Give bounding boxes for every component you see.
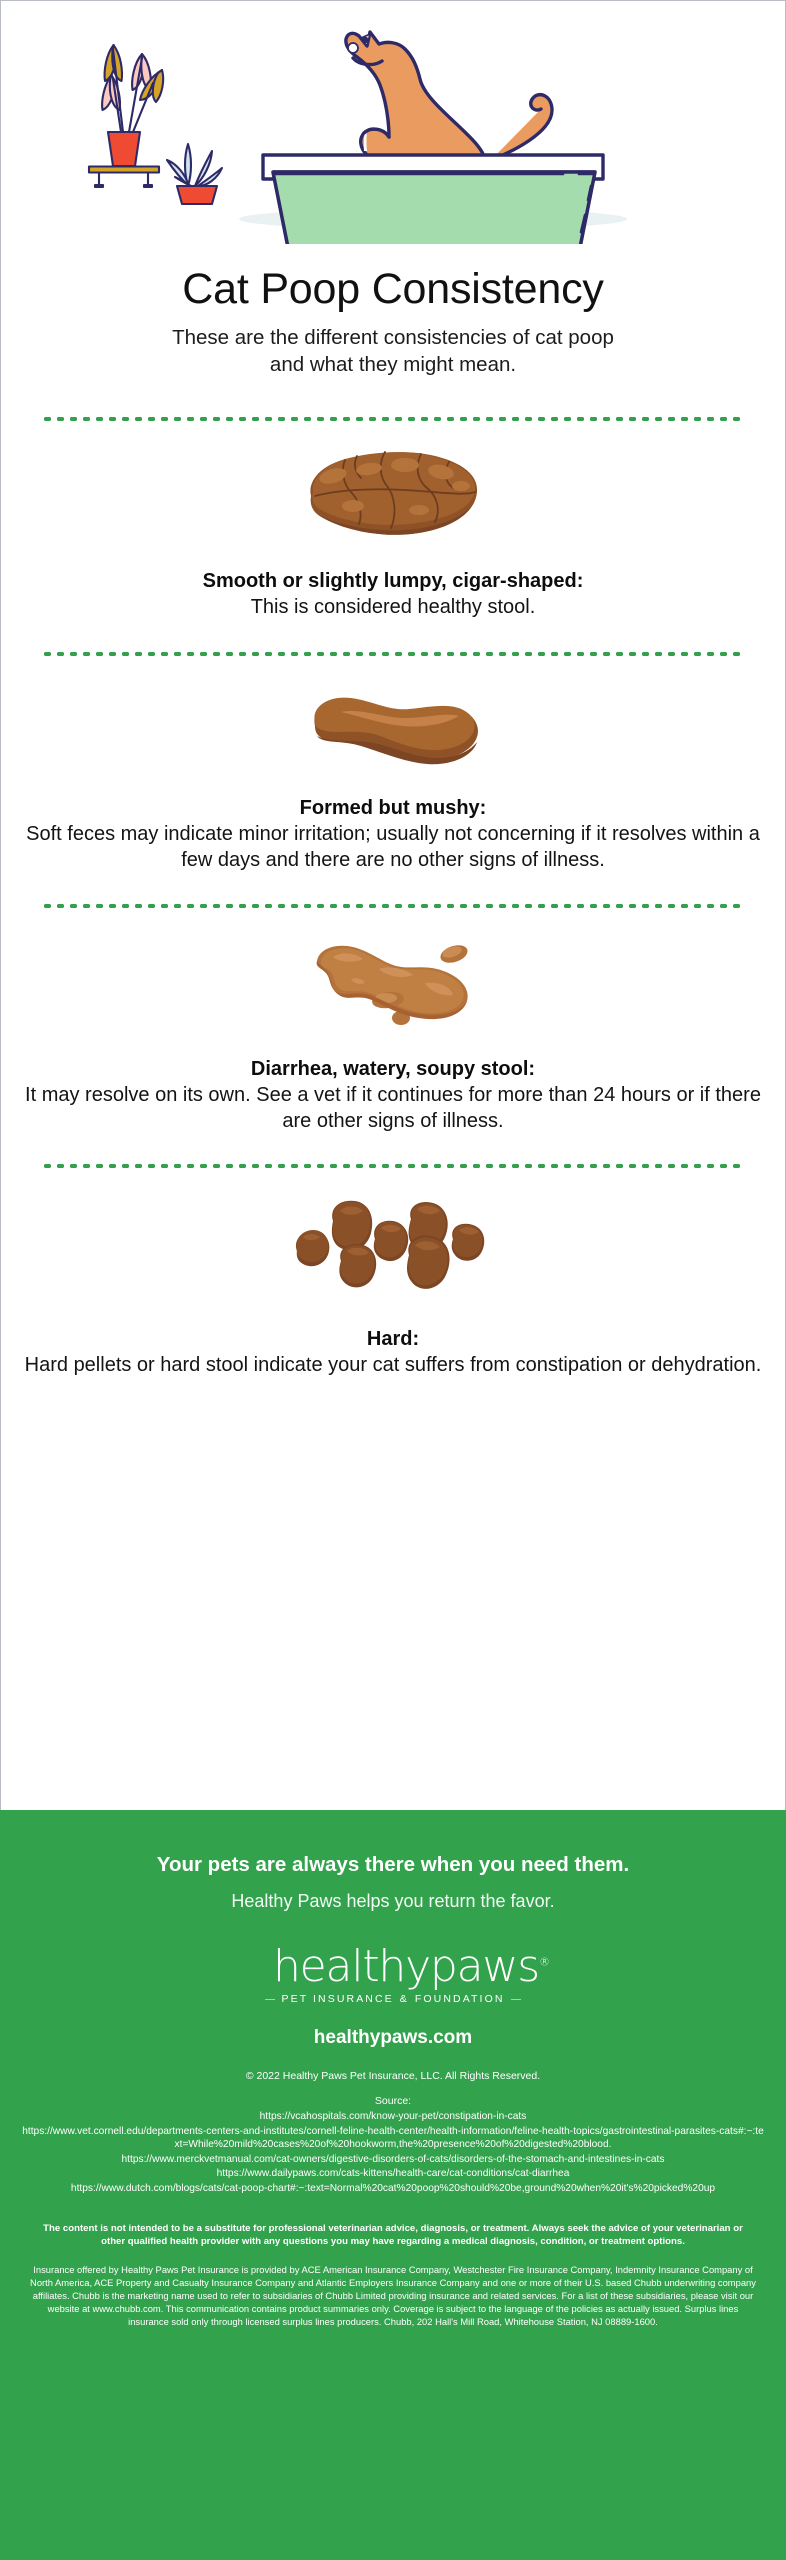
stool-formed-mushy-icon <box>23 684 763 769</box>
source-list: https://vcahospitals.com/know-your-pet/c… <box>16 2110 770 2196</box>
section-2-heading: Formed but mushy: <box>23 795 763 821</box>
title-block: Cat Poop Consistency These are the diffe… <box>1 266 785 378</box>
healthypaws-logo[interactable]: healthypaws® PET INSURANCE & FOUNDATION <box>273 1945 513 2005</box>
stool-lumpy-cigar-icon <box>23 444 763 544</box>
divider-3 <box>41 904 745 908</box>
divider-1 <box>41 417 745 421</box>
page-subtitle: These are the different consistencies of… <box>158 325 628 377</box>
footer-panel: Your pets are always there when you need… <box>0 1810 786 2560</box>
footer-subline: Healthy Paws helps you return the favor. <box>231 1890 554 1913</box>
section-1-heading: Smooth or slightly lumpy, cigar-shaped: <box>23 568 763 594</box>
legal-text: Insurance offered by Healthy Paws Pet In… <box>30 2264 756 2329</box>
section-3-heading: Diarrhea, watery, soupy stool: <box>23 1056 763 1082</box>
logo-rule-right <box>511 1999 521 2000</box>
site-url-link[interactable]: healthypaws.com <box>314 2027 472 2049</box>
registered-trademark-icon: ® <box>539 1955 550 1968</box>
divider-4 <box>41 1164 745 1168</box>
logo-wordmark: healthypaws® <box>273 1945 550 1989</box>
section-1-body: This is considered healthy stool. <box>23 594 763 621</box>
source-label: Source: <box>375 2094 411 2108</box>
section-2-body: Soft feces may indicate minor irritation… <box>23 821 763 874</box>
list-item[interactable]: https://www.dutch.com/blogs/cats/cat-poo… <box>16 2182 770 2195</box>
list-item[interactable]: https://www.merckvetmanual.com/cat-owner… <box>16 2153 770 2166</box>
hero-illustration <box>1 1 785 244</box>
footer-headline: Your pets are always there when you need… <box>157 1852 629 1879</box>
divider-2 <box>41 652 745 656</box>
logo-tagline-right: FOUNDATION <box>415 1993 505 2005</box>
logo-rule-left <box>265 1999 275 2000</box>
list-item[interactable]: https://vcahospitals.com/know-your-pet/c… <box>16 2110 770 2123</box>
section-4-body: Hard pellets or hard stool indicate your… <box>23 1352 763 1379</box>
section-diarrhea: Diarrhea, watery, soupy stool: It may re… <box>1 935 785 1135</box>
section-3-body: It may resolve on its own. See a vet if … <box>23 1082 763 1135</box>
cat-in-litter-box-illustration <box>1 1 786 244</box>
medical-disclaimer: The content is not intended to be a subs… <box>36 2222 750 2248</box>
section-4-heading: Hard: <box>23 1326 763 1352</box>
content-panel: Cat Poop Consistency These are the diffe… <box>0 0 786 1810</box>
logo-wordmark-text: healthypaws <box>273 1941 539 1992</box>
logo-tagline-amp: & <box>400 1993 409 2005</box>
list-item[interactable]: https://www.dailypaws.com/cats-kittens/h… <box>16 2167 770 2180</box>
section-formed-mushy: Formed but mushy: Soft feces may indicat… <box>1 684 785 874</box>
logo-tagline: PET INSURANCE & FOUNDATION <box>273 1993 513 2005</box>
page-title: Cat Poop Consistency <box>31 266 755 312</box>
stool-diarrhea-icon <box>23 935 763 1030</box>
copyright-text: © 2022 Healthy Paws Pet Insurance, LLC. … <box>246 2069 540 2083</box>
logo-tagline-left: PET INSURANCE <box>281 1993 393 2005</box>
list-item[interactable]: https://www.vet.cornell.edu/departments-… <box>16 2125 770 2152</box>
infographic-root: Cat Poop Consistency These are the diffe… <box>0 0 786 2560</box>
stool-hard-pellets-icon <box>23 1199 763 1299</box>
section-hard: Hard: Hard pellets or hard stool indicat… <box>1 1199 785 1379</box>
section-smooth-lumpy: Smooth or slightly lumpy, cigar-shaped: … <box>1 444 785 621</box>
